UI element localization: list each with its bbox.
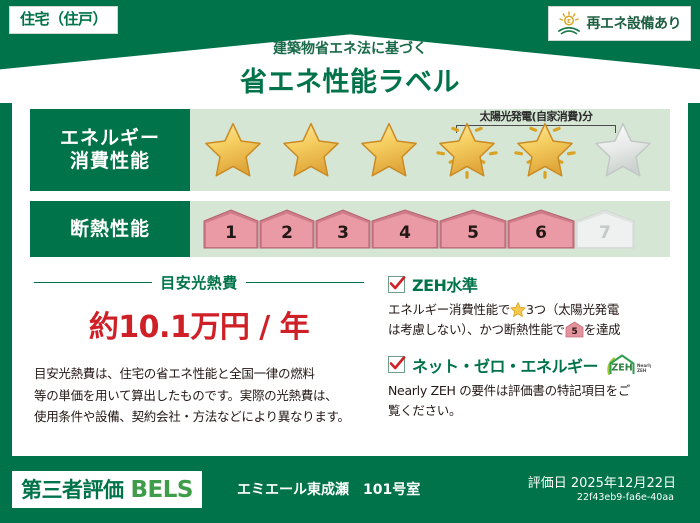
energy-performance-label: エネルギー 消費性能 [30,109,190,191]
zeh-level-body-b: 3つ（太陽光発電 [526,302,619,317]
insulation-chip-5-on: 5 [438,209,508,249]
insulation-chip-label: 3 [337,223,349,249]
insulation-chip-3-on: 3 [314,209,372,249]
star-1-filled [196,119,270,181]
zeh-level-title: ZEH水準 [412,272,477,296]
heading-rule-right [246,282,364,283]
star-3-filled [352,119,426,181]
check-icon [388,274,407,293]
energy-performance-label-line1: エネルギー [60,127,160,150]
body-panel: エネルギー 消費性能 太陽光発電(自家消費)分 断熱性能 1234567 [12,96,688,456]
building-name: エミエール東成瀬 101号室 [237,479,420,499]
insulation-level-chips: 1234567 [202,209,634,249]
insulation-chip-label: 2 [281,223,293,249]
net-zero-checkbox[interactable] [388,356,405,373]
zeh-level-checkbox[interactable] [388,276,405,293]
insulation-performance-row: 断熱性能 1234567 [30,201,670,257]
housing-type-badge: 住宅（住戸） [9,6,118,34]
utility-cost-description-line2: 等の単価を用いて算出したものです。実際の光熱費は、 [34,385,364,407]
insulation-chip-4-on: 4 [370,209,440,249]
utility-cost-value: 約10.1万円 / 年 [34,302,364,346]
utility-cost-description: 目安光熱費は、住宅の省エネ性能と全国一律の燃料 等の単価を用いて算出したものです… [34,363,364,428]
renewable-energy-badge: E 再エネ設備あり [548,6,692,41]
utility-cost-heading: 目安光熱費 [34,272,364,293]
header: 住宅（住戸） E 再エネ設備あり 建築物省エネ法に基づく 省エネ性能ラベル [0,0,700,103]
insulation-chip-1-on: 1 [202,209,260,249]
net-zero-body-line2: 覧ください。 [388,401,670,421]
bels-badge-en: BELS [131,477,193,503]
zeh-level-body-d: を達成 [584,322,621,337]
utility-cost-block: 目安光熱費 約10.1万円 / 年 目安光熱費は、住宅の省エネ性能と全国一律の燃… [34,272,364,428]
check-icon [388,354,407,373]
insulation-performance-label: 断熱性能 [30,201,190,257]
net-zero-body: Nearly ZEH の要件は評価書の特記項目をご 覧ください。 [388,381,670,422]
energy-label-card: 住宅（住戸） E 再エネ設備あり 建築物省エネ法に基づく 省エネ性能ラベル [0,0,700,523]
zeh-level-body-a: エネルギー消費性能で [388,302,510,317]
insulation-chip-6-on: 6 [506,209,576,249]
star-icon [510,302,526,317]
insulation-performance-content: 1234567 [190,201,670,257]
insulation-chip-icon-value: 5 [571,327,577,337]
insulation-chip-7-off: 7 [574,209,636,249]
sun-icon: E [556,11,582,35]
net-zero-header: ネット・ゼロ・エネルギー ZEH Nearly ZEH [388,353,670,377]
insulation-chip-label: 1 [225,223,237,249]
star-4-filled [430,119,504,181]
svg-text:E: E [567,19,571,25]
utility-cost-heading-label: 目安光熱費 [160,272,238,293]
title-subtitle: 建築物省エネ法に基づく [0,38,700,58]
title-block: 建築物省エネ法に基づく 省エネ性能ラベル [0,38,700,99]
net-zero-body-line1: Nearly ZEH の要件は評価書の特記項目をご [388,381,670,401]
energy-performance-row: エネルギー 消費性能 太陽光発電(自家消費)分 [30,109,670,191]
insulation-chip-label: 5 [467,223,479,249]
bels-badge-jp: 第三者評価 [21,474,124,504]
evaluation-id: 22f43eb9-fa6e-40aa [577,492,674,503]
net-zero-title: ネット・ゼロ・エネルギー [412,353,598,377]
zeh-item-zeh-level: ZEH水準 エネルギー消費性能で 3つ（太陽光発電 は考慮しない）、かつ断熱性能… [388,272,670,341]
insulation-chip-2-on: 2 [258,209,316,249]
heading-rule-left [34,282,152,283]
zeh-logo-text: ZEH [611,362,632,373]
insulation-chip-label: 7 [599,223,611,249]
insulation-chip-icon: 5 [565,321,584,338]
utility-cost-description-line3: 使用条件や設備、契約会社・方法などにより異なります。 [34,406,364,428]
footer: 第三者評価 BELS エミエール東成瀬 101号室 評価日 2025年12月22… [0,462,700,523]
zeh-level-body: エネルギー消費性能で 3つ（太陽光発電 は考慮しない）、かつ断熱性能で 5 を達… [388,300,670,341]
star-5-filled [508,119,582,181]
zeh-item-net-zero: ネット・ゼロ・エネルギー ZEH Nearly ZEH Nearly ZEH の… [388,353,670,422]
zeh-logo-sub-line2: ZEH [637,368,647,373]
energy-performance-content: 太陽光発電(自家消費)分 [190,109,670,191]
page-title: 省エネ性能ラベル [0,60,700,99]
evaluation-date: 評価日 2025年12月22日 [528,472,676,491]
zeh-logo-icon: ZEH Nearly ZEH [605,353,651,377]
bels-badge: 第三者評価 BELS [12,471,202,508]
renewable-badge-label: 再エネ設備あり [587,13,682,33]
zeh-block: ZEH水準 エネルギー消費性能で 3つ（太陽光発電 は考慮しない）、かつ断熱性能… [388,272,670,433]
star-6-empty [586,119,660,181]
insulation-chip-label: 4 [399,223,411,249]
star-rating [196,119,660,181]
utility-cost-description-line1: 目安光熱費は、住宅の省エネ性能と全国一律の燃料 [34,363,364,385]
zeh-level-body-c: は考慮しない）、かつ断熱性能で [388,322,565,337]
energy-performance-label-line2: 消費性能 [70,150,150,173]
star-2-filled [274,119,348,181]
zeh-level-header: ZEH水準 [388,272,670,296]
insulation-chip-label: 6 [535,223,547,249]
